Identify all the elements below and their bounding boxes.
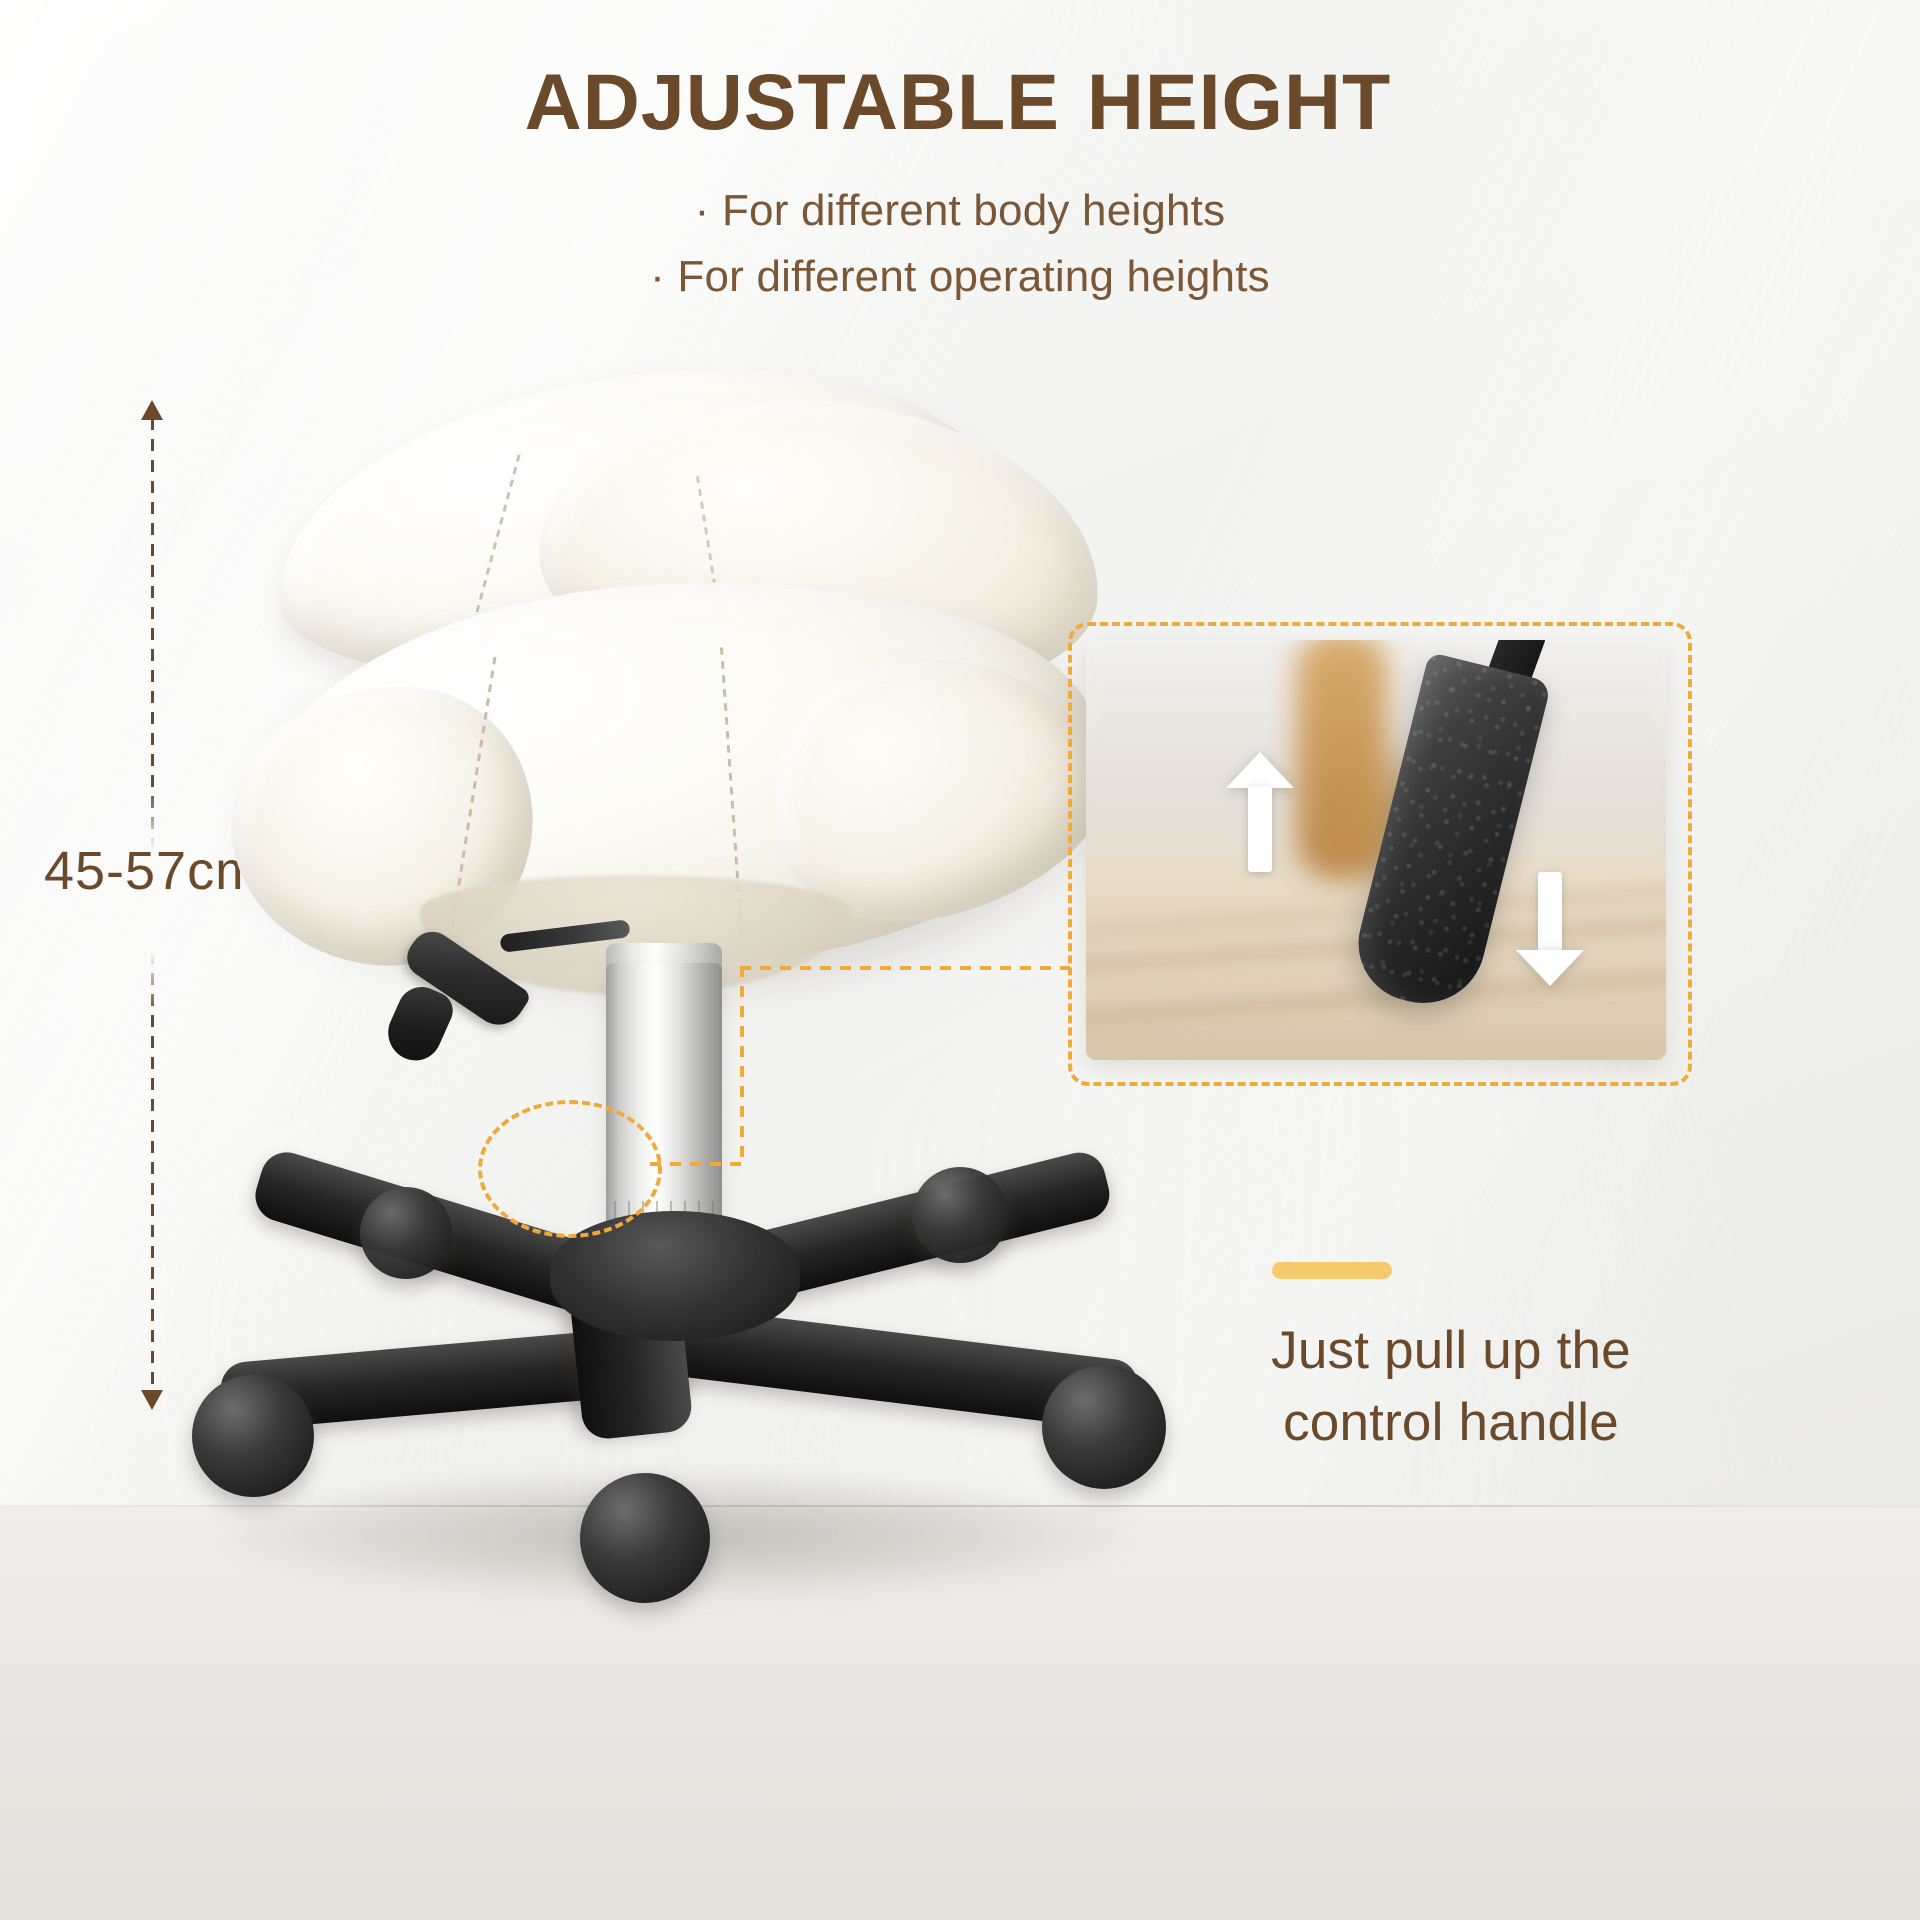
infographic-canvas: ADJUSTABLE HEIGHT · For different body h…: [0, 0, 1920, 1920]
caster-wheel: [360, 1187, 452, 1279]
callout-inset-frame: [1068, 622, 1692, 1086]
dimension-dash-upper: [151, 418, 154, 850]
page-title: ADJUSTABLE HEIGHT: [0, 62, 1920, 141]
caption-divider-pill: [1272, 1262, 1392, 1279]
height-dimension-line: [151, 400, 154, 1410]
callout-caption-line-2: control handle: [1056, 1392, 1846, 1453]
caster-wheel: [580, 1473, 710, 1603]
subtitle-bullet-1: · For different body heights: [0, 186, 1920, 236]
subtitle-bullet-2: · For different operating heights: [0, 252, 1920, 302]
page-title-highlight: HEIGHT: [1083, 62, 1395, 141]
arrow-up-icon: [141, 400, 163, 420]
callout-connector-line: [740, 966, 744, 1166]
page-title-plain: ADJUSTABLE: [525, 57, 1083, 146]
callout-connector-line: [740, 966, 1070, 970]
callout-caption-line-1: Just pull up the: [1056, 1320, 1846, 1381]
caster-wheel: [192, 1375, 314, 1497]
arrow-down-icon: [141, 1390, 163, 1410]
dimension-dash-lower: [151, 952, 154, 1392]
callout-highlight-circle: [478, 1100, 662, 1238]
caster-wheel: [912, 1167, 1008, 1263]
callout-connector-line: [650, 1162, 745, 1166]
